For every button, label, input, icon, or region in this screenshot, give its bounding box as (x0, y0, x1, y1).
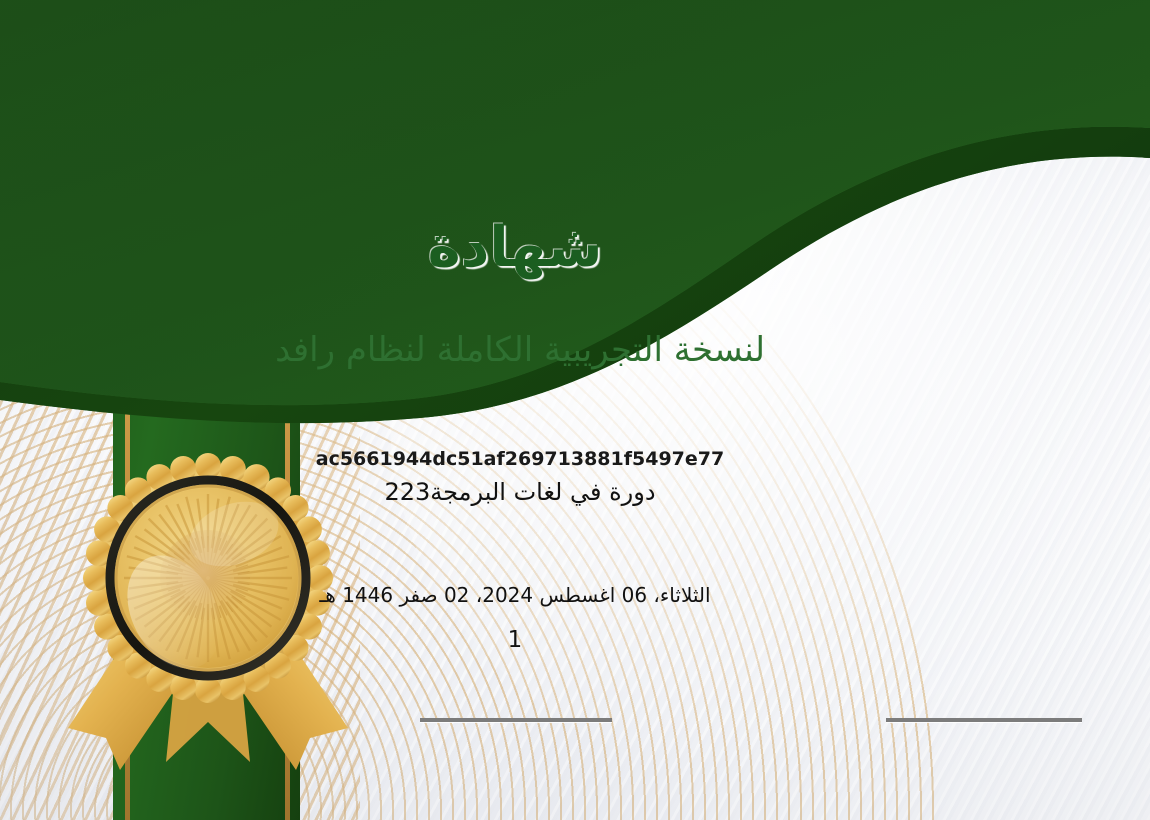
serial-number: 1 (0, 627, 1030, 653)
course-name: دورة في لغات البرمجة223 (0, 478, 1040, 506)
certificate-page: شهادة لنسخة التجريبية الكاملة لنظام رافد… (0, 0, 1150, 820)
issue-date: الثلاثاء، 06 اغسطس 2024، 02 صفر 1446 هـ (0, 583, 1030, 607)
page-title: شهادة (0, 215, 1030, 280)
certificate-content: شهادة لنسخة التجريبية الكاملة لنظام رافد… (0, 0, 1150, 820)
certificate-subtitle: لنسخة التجريبية الكاملة لنظام رافد (0, 330, 1040, 370)
signature-line-left (420, 718, 612, 722)
signature-line-right (886, 718, 1082, 722)
certificate-hash: ac5661944dc51af269713881f5497e77 (0, 448, 1040, 470)
